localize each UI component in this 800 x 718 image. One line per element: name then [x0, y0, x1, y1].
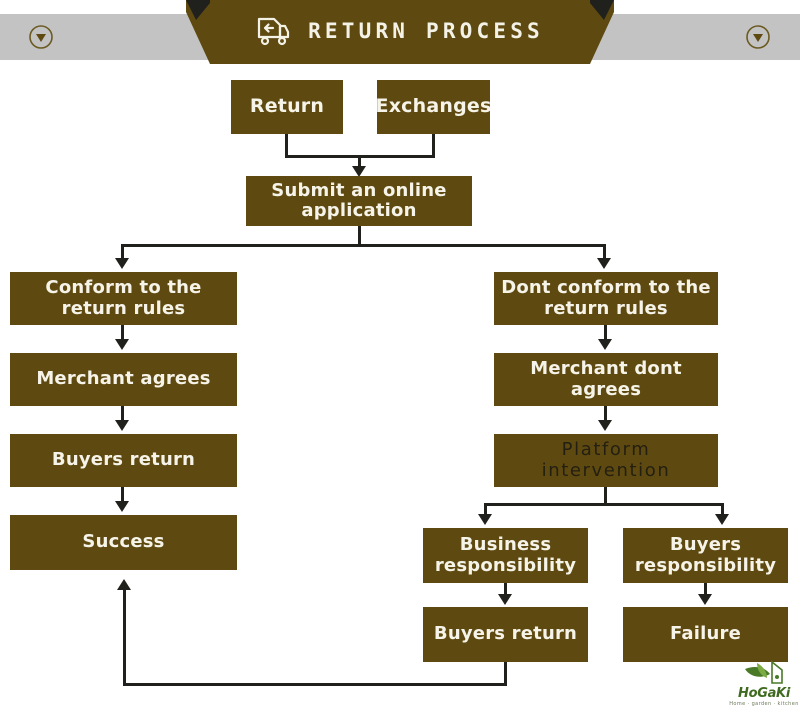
brand-logo[interactable]: HoGaKi Home · garden · kitchen: [733, 660, 795, 712]
edge-submit-down: [358, 226, 361, 246]
page-title: RETURN PROCESS: [308, 19, 544, 43]
node-merchant-dont-agrees[interactable]: Merchant dont agrees: [494, 353, 718, 406]
arrow-loop-to-success: [117, 579, 131, 590]
node-merchant-agrees[interactable]: Merchant agrees: [10, 353, 237, 406]
edge-platform-split-horizontal: [484, 503, 724, 506]
node-label: Dont conform to the return rules: [498, 278, 714, 318]
node-label: Buyers responsibility: [627, 535, 784, 575]
arrow-to-buyers-return-right: [498, 594, 512, 605]
node-business-responsibility[interactable]: Business responsibility: [423, 528, 588, 583]
flowchart-canvas: RETURN PROCESS Return Exchanges Submit a…: [0, 0, 800, 718]
node-label: Return: [250, 96, 324, 117]
edge-loop-horizontal: [123, 683, 507, 686]
node-exchanges[interactable]: Exchanges: [377, 80, 490, 134]
brand-tagline: Home · garden · kitchen: [729, 702, 799, 707]
edge-loop-up: [123, 590, 126, 683]
arrow-to-business-responsibility: [478, 514, 492, 525]
chevron-down-circle-icon-left[interactable]: [28, 24, 54, 50]
edge-branch-horizontal: [121, 244, 606, 247]
node-label: Platform intervention: [498, 440, 714, 480]
node-label: Failure: [670, 624, 741, 644]
node-label: Merchant agrees: [36, 369, 210, 389]
node-buyers-responsibility[interactable]: Buyers responsibility: [623, 528, 788, 583]
node-success[interactable]: Success: [10, 515, 237, 570]
node-buyers-return-left[interactable]: Buyers return: [10, 434, 237, 487]
arrow-to-buyers-responsibility: [715, 514, 729, 525]
node-conform-rules[interactable]: Conform to the return rules: [10, 272, 237, 325]
node-dont-conform-rules[interactable]: Dont conform to the return rules: [494, 272, 718, 325]
arrow-to-platform: [598, 420, 612, 431]
arrow-to-buyers-return-left: [115, 420, 129, 431]
node-label: Conform to the return rules: [14, 278, 233, 318]
node-label: Merchant dont agrees: [498, 359, 714, 399]
edge-exchanges-down: [432, 134, 435, 157]
arrow-to-success: [115, 501, 129, 512]
leaf-house-logo-icon: [743, 660, 785, 686]
arrow-to-dont-conform: [597, 258, 611, 269]
node-failure[interactable]: Failure: [623, 607, 788, 662]
node-return[interactable]: Return: [231, 80, 343, 134]
edge-return-down: [285, 134, 288, 157]
arrow-to-merchant-agrees: [115, 339, 129, 350]
node-label: Buyers return: [434, 624, 577, 644]
node-label: Exchanges: [376, 96, 492, 117]
return-truck-icon: [256, 16, 290, 46]
arrow-to-failure: [698, 594, 712, 605]
brand-name: HoGaKi: [738, 687, 790, 700]
node-label: Submit an online application: [250, 181, 468, 221]
node-label: Business responsibility: [427, 535, 584, 575]
node-label: Buyers return: [52, 450, 195, 470]
node-label: Success: [82, 532, 164, 552]
header-content: RETURN PROCESS: [186, 0, 614, 62]
arrow-to-merchant-dont-agrees: [598, 339, 612, 350]
node-submit-application[interactable]: Submit an online application: [246, 176, 472, 226]
chevron-down-circle-icon-right[interactable]: [745, 24, 771, 50]
arrow-to-conform: [115, 258, 129, 269]
node-platform-intervention[interactable]: Platform intervention: [494, 434, 718, 487]
node-buyers-return-right[interactable]: Buyers return: [423, 607, 588, 662]
